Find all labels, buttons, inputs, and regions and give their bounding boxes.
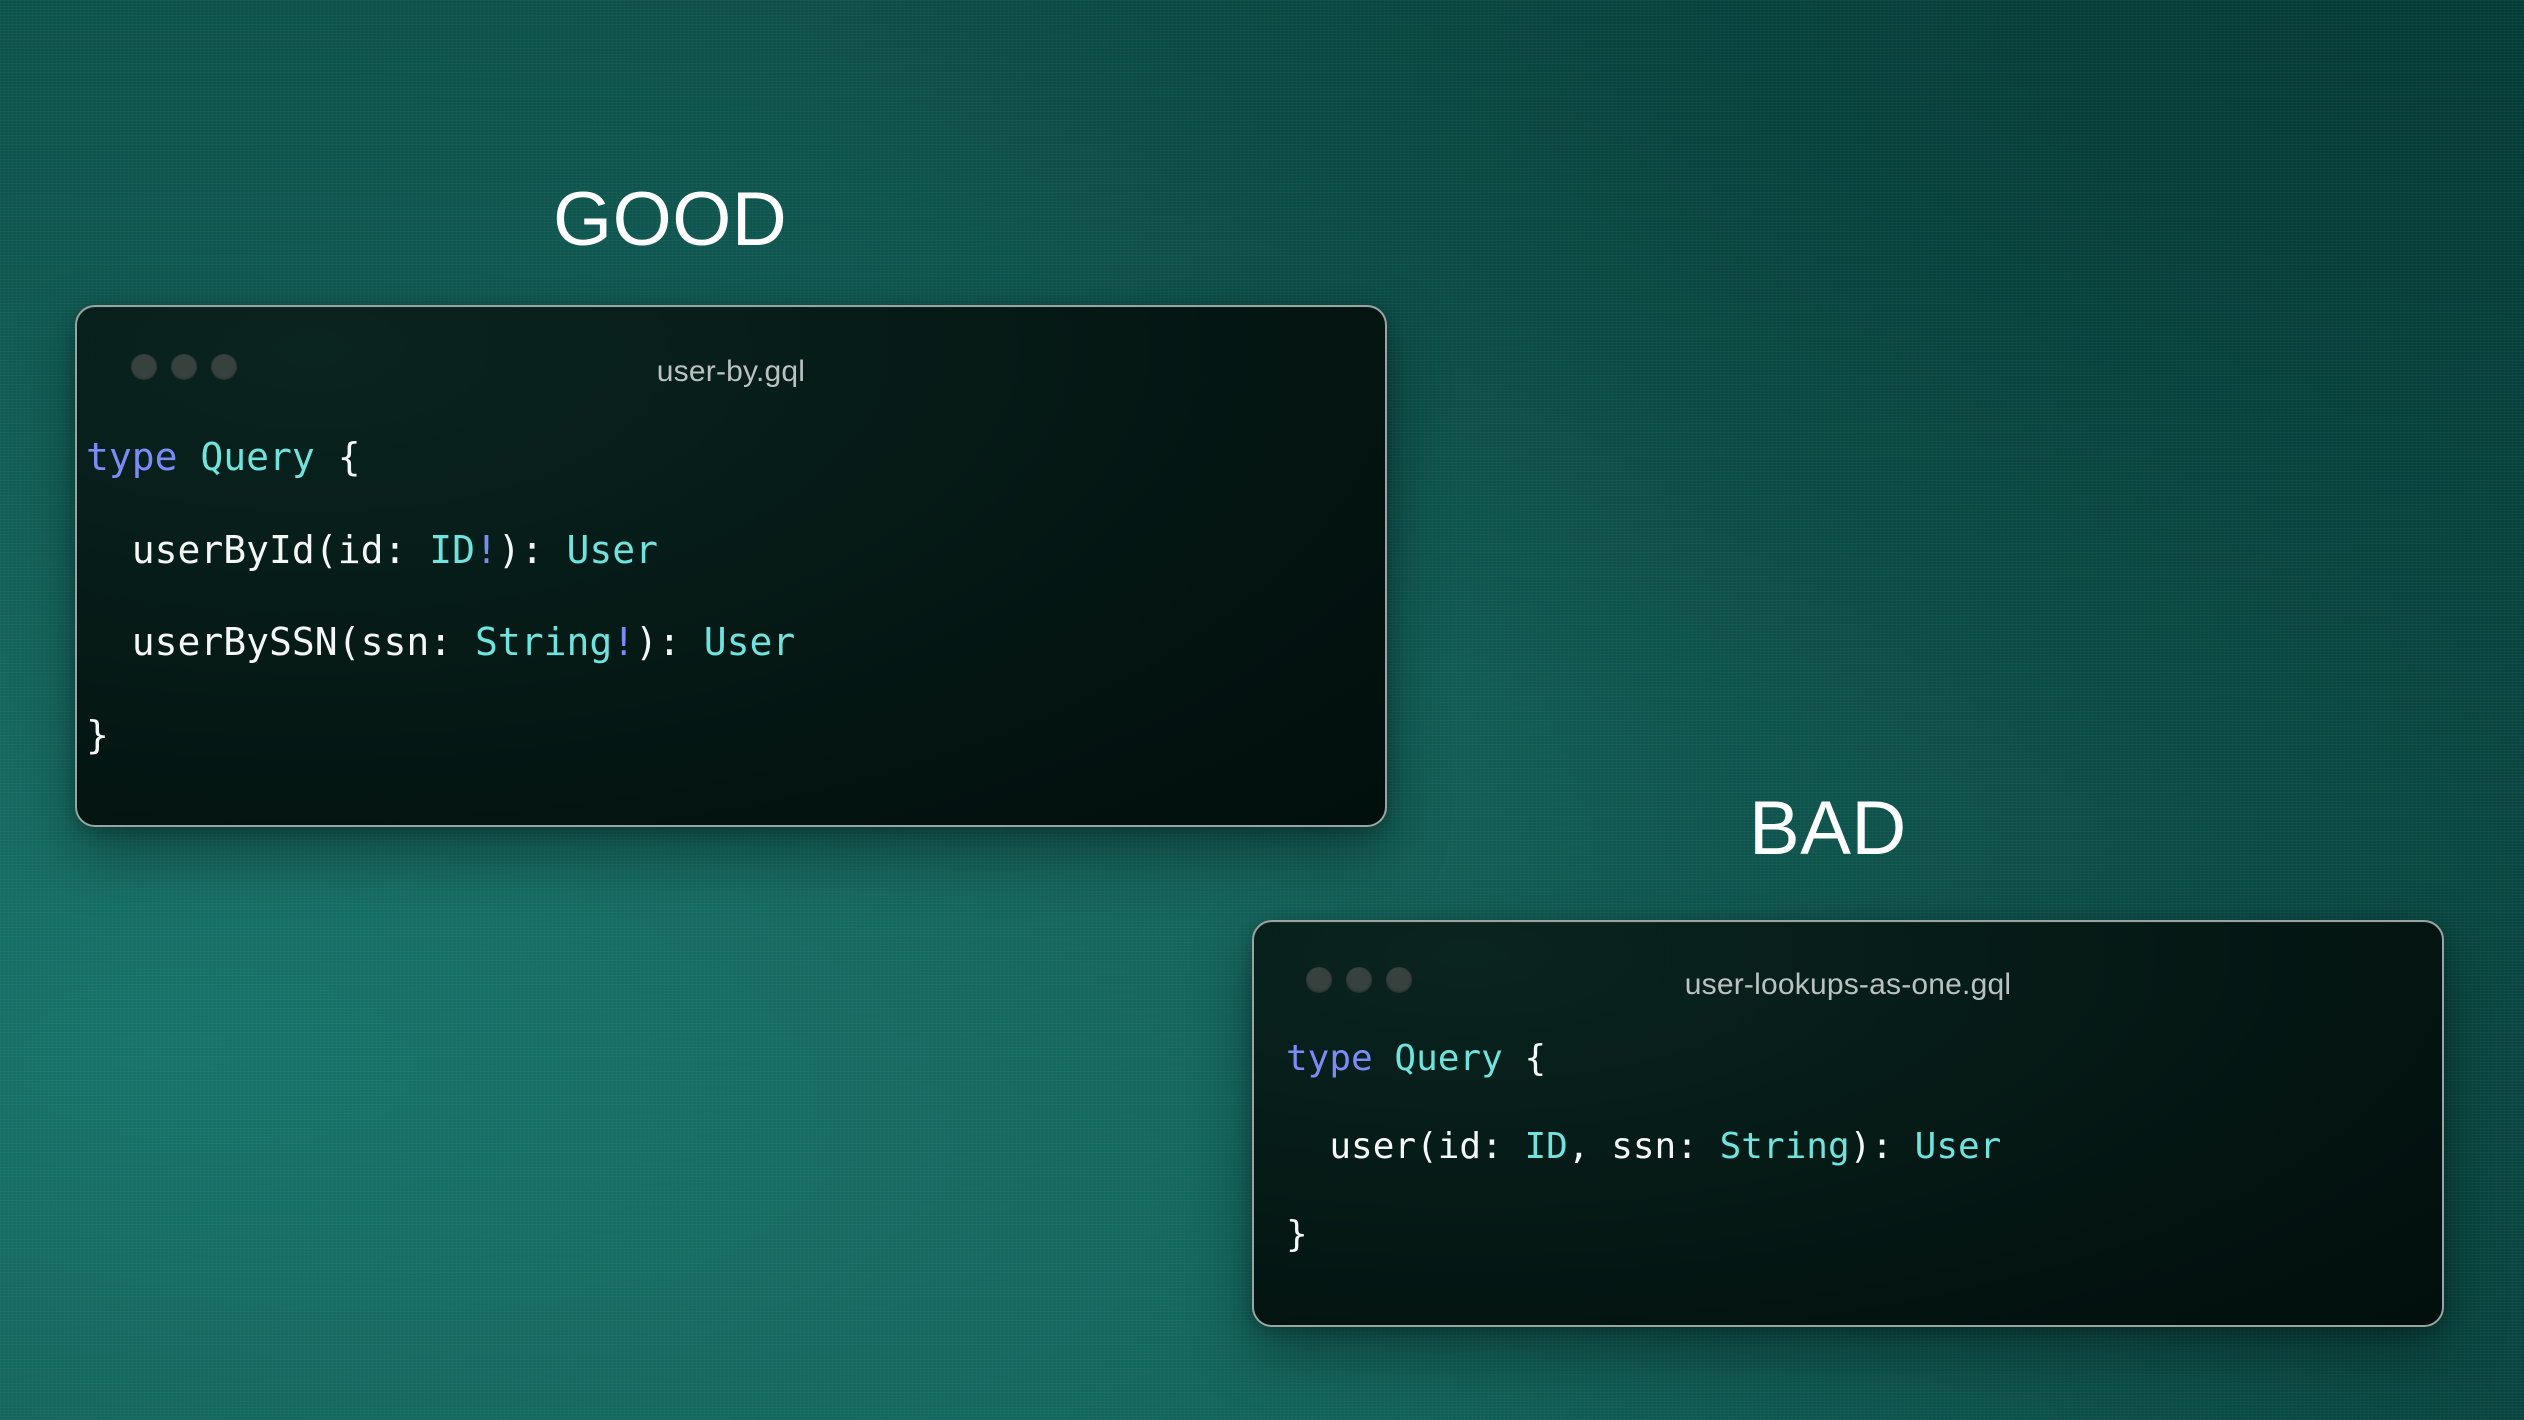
code-token-type: Query	[200, 435, 314, 479]
code-token-punct: {	[1524, 1038, 1546, 1079]
window-titlebar-good: user-by.gql	[77, 307, 1385, 403]
code-token-type: Query	[1394, 1038, 1502, 1079]
code-token-punct: :	[1676, 1126, 1719, 1167]
code-line: userById(id: ID!): User	[86, 527, 1385, 573]
code-line: user(id: ID, ssn: String): User	[1286, 1125, 2442, 1169]
code-token-ident: ssn	[1611, 1126, 1676, 1167]
code-block-good: type Query { userById(id: ID!): User use…	[77, 403, 1385, 759]
code-line: userBySSN(ssn: String!): User	[86, 619, 1385, 665]
code-window-good: user-by.gql type Query { userById(id: ID…	[75, 305, 1387, 827]
code-token-ident: ssn	[361, 620, 430, 664]
code-token-ident: userBySSN	[132, 620, 338, 664]
code-token-type: String	[1720, 1126, 1850, 1167]
code-token-punct: (	[338, 620, 361, 664]
good-example-label: GOOD	[553, 182, 787, 258]
code-token-punct: }	[1286, 1214, 1308, 1255]
code-line: type Query {	[1286, 1037, 2442, 1081]
code-token-punct: :	[429, 620, 475, 664]
code-token-keyword: type	[1286, 1038, 1373, 1079]
code-line: }	[1286, 1213, 2442, 1257]
code-token-type: User	[567, 528, 659, 572]
code-line: type Query {	[86, 434, 1385, 480]
code-token-punct: ):	[1850, 1126, 1915, 1167]
code-block-bad: type Query { user(id: ID, ssn: String): …	[1254, 1014, 2442, 1257]
code-window-bad: user-lookups-as-one.gql type Query { use…	[1252, 920, 2444, 1327]
window-titlebar-bad: user-lookups-as-one.gql	[1254, 922, 2442, 1014]
code-token-bang: !	[612, 620, 635, 664]
code-token-punct: ):	[498, 528, 567, 572]
code-token-type: ID	[429, 528, 475, 572]
code-token-punct: :	[383, 528, 429, 572]
code-token-bang: !	[475, 528, 498, 572]
bad-example-label: BAD	[1749, 791, 1907, 867]
code-token-punct: (	[315, 528, 338, 572]
window-title-bad: user-lookups-as-one.gql	[1254, 968, 2442, 1002]
code-token-punct: ):	[635, 620, 704, 664]
code-token-punct: ,	[1568, 1126, 1611, 1167]
code-line: }	[86, 712, 1385, 758]
code-token-type: User	[1915, 1126, 2002, 1167]
code-token-punct: {	[338, 435, 361, 479]
window-title-good: user-by.gql	[77, 355, 1385, 389]
code-token-punct: (	[1416, 1126, 1438, 1167]
code-token-punct: :	[1481, 1126, 1524, 1167]
code-token-type: ID	[1524, 1126, 1567, 1167]
code-token-punct: }	[86, 713, 109, 757]
code-token-keyword: type	[86, 435, 178, 479]
code-token-type: String	[475, 620, 612, 664]
code-token-type: User	[704, 620, 796, 664]
code-token-ident: user	[1329, 1126, 1416, 1167]
code-token-ident: id	[1438, 1126, 1481, 1167]
code-token-ident: id	[338, 528, 384, 572]
code-token-ident: userById	[132, 528, 315, 572]
